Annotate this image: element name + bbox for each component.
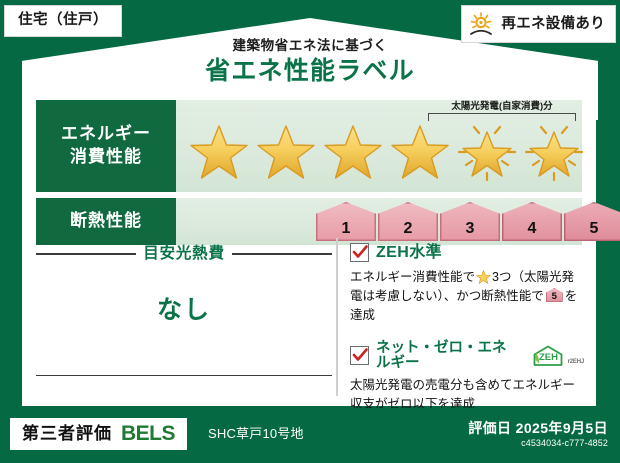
energy-label-line1: エネルギー: [61, 123, 151, 146]
house-icon: 3: [440, 202, 500, 241]
claim-zeh-level: ZEH水準 エネルギー消費性能で3つ（太陽光発電は考慮しない）、かつ断熱性能で5…: [350, 243, 584, 325]
zeh-logo-icon: ZEH r2EHJ: [530, 344, 584, 368]
footer-bar: 第三者評価 BELS SHC草戸10号地 評価日 2025年9月5日 c4534…: [0, 408, 620, 463]
utility-cost-header: 目安光熱費: [36, 246, 332, 262]
house-icon: 1: [316, 202, 376, 241]
claim-zeh-level-title: ZEH水準: [376, 245, 442, 261]
star-icon: [320, 116, 386, 186]
inline-house-level: 5: [546, 291, 563, 302]
utility-cost-title: 目安光熱費: [143, 246, 225, 262]
house-icon: 5: [564, 202, 620, 241]
insulation-performance-row: 断熱性能 1 2 3: [36, 198, 582, 245]
divider-left: [36, 253, 136, 255]
claim-zeh-level-header: ZEH水準: [350, 243, 584, 262]
insulation-level-scale: 1 2 3 4: [316, 202, 620, 241]
insulation-level-number: 2: [378, 221, 438, 237]
vertical-divider: [336, 238, 338, 396]
star-icon: [253, 116, 319, 186]
bels-certification-badge: 第三者評価 BELS: [10, 418, 187, 450]
solar-bracket-label: 太陽光発電(自家消費)分: [428, 102, 576, 112]
insulation-performance-label: 断熱性能: [36, 198, 176, 245]
insulation-level-number: 3: [440, 221, 500, 237]
category-badge: 住宅（住戸）: [4, 5, 122, 37]
serial-number: c4534034-c777-4852: [468, 439, 608, 448]
energy-performance-body: 太陽光発電(自家消費)分: [176, 100, 582, 192]
check-icon: [350, 243, 369, 262]
star-icon: [186, 116, 252, 186]
zeh-logo-caption: r2EHJ: [568, 359, 584, 368]
sun-icon: [468, 11, 496, 37]
utility-cost-section: 目安光熱費 なし: [36, 246, 332, 394]
house-icon: 2: [378, 202, 438, 241]
house-icon-inline: 5: [546, 288, 563, 302]
renewable-energy-badge: 再エネ設備あり: [461, 5, 616, 43]
claim-net-zero-header: ネット・ゼロ・エネルギー ZEH r2EHJ: [350, 341, 584, 370]
star-icon-inline: [476, 270, 491, 285]
insulation-level-number: 4: [502, 221, 562, 237]
label-body-card: エネルギー 消費性能 太陽光発電(自家消費)分: [22, 88, 596, 406]
house-icon: 4: [502, 202, 562, 241]
claim-net-zero-title: ネット・ゼロ・エネルギー: [376, 341, 519, 370]
energy-performance-label: エネルギー 消費性能: [36, 100, 176, 192]
performance-section: エネルギー 消費性能 太陽光発電(自家消費)分: [36, 100, 582, 251]
claim-zeh-level-body: エネルギー消費性能で3つ（太陽光発電は考慮しない）、かつ断熱性能で5を達成: [350, 268, 584, 325]
evaluation-info: 評価日 2025年9月5日 c4534034-c777-4852: [468, 420, 608, 448]
star-icon-solar: [521, 116, 587, 186]
label-title-block: 建築物省エネ法に基づく 省エネ性能ラベル: [0, 38, 620, 86]
energy-performance-row: エネルギー 消費性能 太陽光発電(自家消費)分: [36, 100, 582, 192]
insulation-level-number: 1: [316, 221, 376, 237]
claims-section: ZEH水準 エネルギー消費性能で3つ（太陽光発電は考慮しない）、かつ断熱性能で5…: [350, 243, 584, 426]
renewable-badge-label: 再エネ設備あり: [501, 17, 605, 32]
utility-cost-value: なし: [36, 298, 332, 323]
claim-text-part1: エネルギー消費性能で: [350, 270, 475, 284]
star-icon-solar: [454, 116, 520, 186]
insulation-level-number: 5: [564, 221, 620, 237]
evaluation-date: 評価日 2025年9月5日: [468, 420, 608, 436]
claim-net-zero-energy: ネット・ゼロ・エネルギー ZEH r2EHJ 太陽光発電の売電分も含めてエネルギ…: [350, 341, 584, 414]
energy-label-card: 住宅（住戸） 再エネ設備あり 建築物省エネ法に基づく 省エネ性: [0, 0, 620, 463]
third-party-label: 第三者評価: [22, 425, 112, 442]
star-icon: [387, 116, 453, 186]
title-main: 省エネ性能ラベル: [0, 57, 620, 86]
bels-logo-text: BELS: [121, 423, 175, 444]
svg-text:ZEH: ZEH: [539, 352, 558, 363]
check-icon: [350, 346, 369, 365]
energy-label-line2: 消費性能: [61, 146, 151, 169]
insulation-performance-body: 1 2 3 4: [176, 198, 582, 245]
utility-cost-rule: [36, 375, 332, 377]
divider-right: [232, 253, 332, 255]
property-name: SHC草戸10号地: [208, 427, 304, 440]
energy-star-rating: [186, 116, 587, 186]
